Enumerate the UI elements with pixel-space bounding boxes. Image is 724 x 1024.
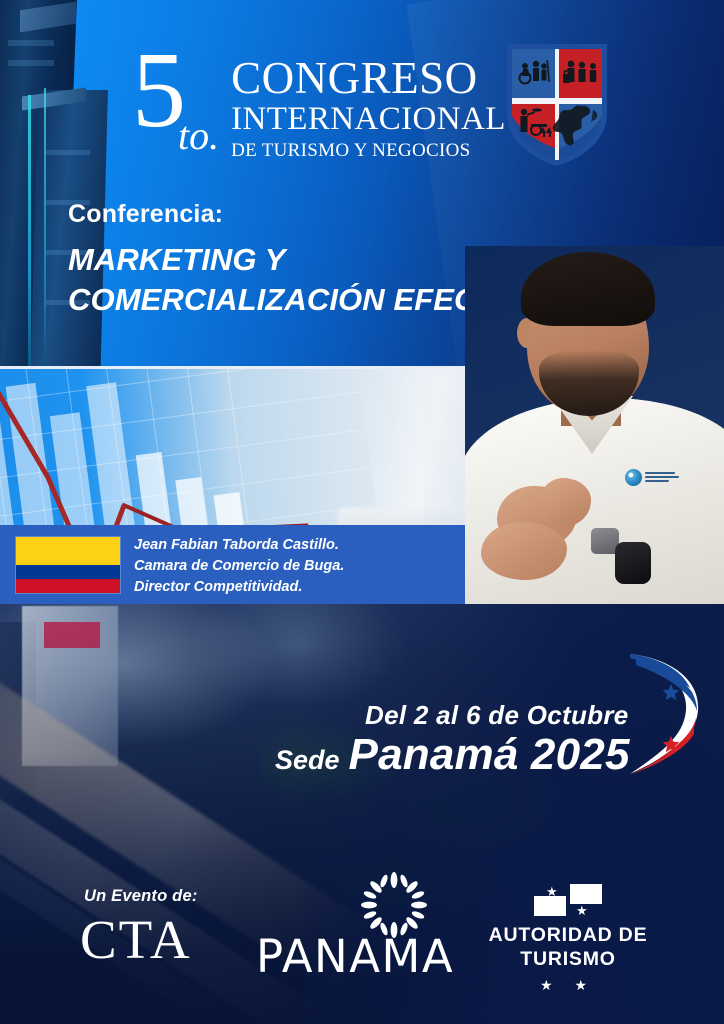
authority-stars: ★ ★ bbox=[478, 977, 658, 994]
authority-line1: AUTORIDAD DE bbox=[478, 924, 658, 948]
edition-suffix: to. bbox=[178, 112, 219, 159]
tower-edge-highlight-2 bbox=[44, 88, 46, 366]
portrait-smartwatch bbox=[615, 542, 651, 584]
window-row bbox=[8, 60, 54, 66]
window-row bbox=[8, 40, 54, 46]
flag-stripe-red bbox=[16, 579, 120, 593]
cta-logo: CTA bbox=[80, 912, 192, 967]
mark-star-top: ★ bbox=[546, 885, 558, 898]
congress-title-line2: INTERNACIONAL bbox=[231, 101, 506, 138]
event-poster: 5 to. CONGRESO INTERNACIONAL DE TURISMO … bbox=[0, 0, 724, 1024]
colombia-flag-icon bbox=[16, 537, 120, 593]
congress-title-lockup: 5 to. CONGRESO INTERNACIONAL DE TURISMO … bbox=[132, 46, 506, 163]
event-venue: Sede Panamá 2025 bbox=[275, 730, 630, 780]
panama-brand-logo: PANAMA bbox=[256, 872, 428, 980]
congress-shield-emblem-icon bbox=[503, 40, 611, 168]
chamber-logo-text bbox=[645, 472, 679, 483]
chamber-logo-mark bbox=[625, 469, 642, 486]
speaker-name: Jean Fabian Taborda Castillo. bbox=[134, 535, 344, 556]
speaker-portrait-photo bbox=[465, 246, 724, 604]
speaker-organization: Camara de Comercio de Buga. bbox=[134, 556, 344, 577]
flag-stripe-yellow bbox=[16, 537, 120, 565]
autoridad-de-turismo-logo: ★ ★ AUTORIDAD DE TURISMO ★ ★ bbox=[478, 884, 658, 994]
speaker-caption-bar: Jean Fabian Taborda Castillo. Camara de … bbox=[0, 525, 470, 604]
chamber-of-commerce-logo-icon bbox=[625, 464, 683, 490]
speaker-details: Jean Fabian Taborda Castillo. Camara de … bbox=[134, 535, 344, 598]
congress-title-line3: DE TURISMO Y NEGOCIOS bbox=[231, 140, 506, 163]
flag-square-upper-right bbox=[570, 884, 602, 904]
authority-line2: TURISMO bbox=[478, 948, 658, 972]
panama-flag-squares-icon: ★ ★ bbox=[534, 884, 602, 916]
conference-label: Conferencia: bbox=[68, 200, 223, 229]
organizer-label: Un Evento de: bbox=[84, 887, 198, 906]
tower-edge-highlight bbox=[28, 95, 31, 366]
panama-flag-swoosh-icon bbox=[614, 648, 718, 780]
event-dates: Del 2 al 6 de Octubre bbox=[365, 700, 629, 731]
panama-wordmark: PANAMA bbox=[256, 930, 454, 983]
window-row bbox=[46, 150, 90, 155]
flag-square-lower-left bbox=[534, 896, 566, 916]
speaker-role: Director Competitividad. bbox=[134, 577, 344, 598]
edition-number: 5 bbox=[132, 46, 184, 137]
portrait-hands bbox=[477, 478, 609, 586]
mark-star-bottom: ★ bbox=[576, 904, 588, 917]
venue-name: Panamá 2025 bbox=[349, 730, 630, 780]
congress-title-line1: CONGRESO bbox=[231, 56, 506, 101]
flag-stripe-blue bbox=[16, 565, 120, 579]
congress-titles: CONGRESO INTERNACIONAL DE TURISMO Y NEGO… bbox=[231, 56, 506, 163]
panama-burst-icon bbox=[361, 872, 427, 938]
venue-label: Sede bbox=[275, 745, 340, 776]
